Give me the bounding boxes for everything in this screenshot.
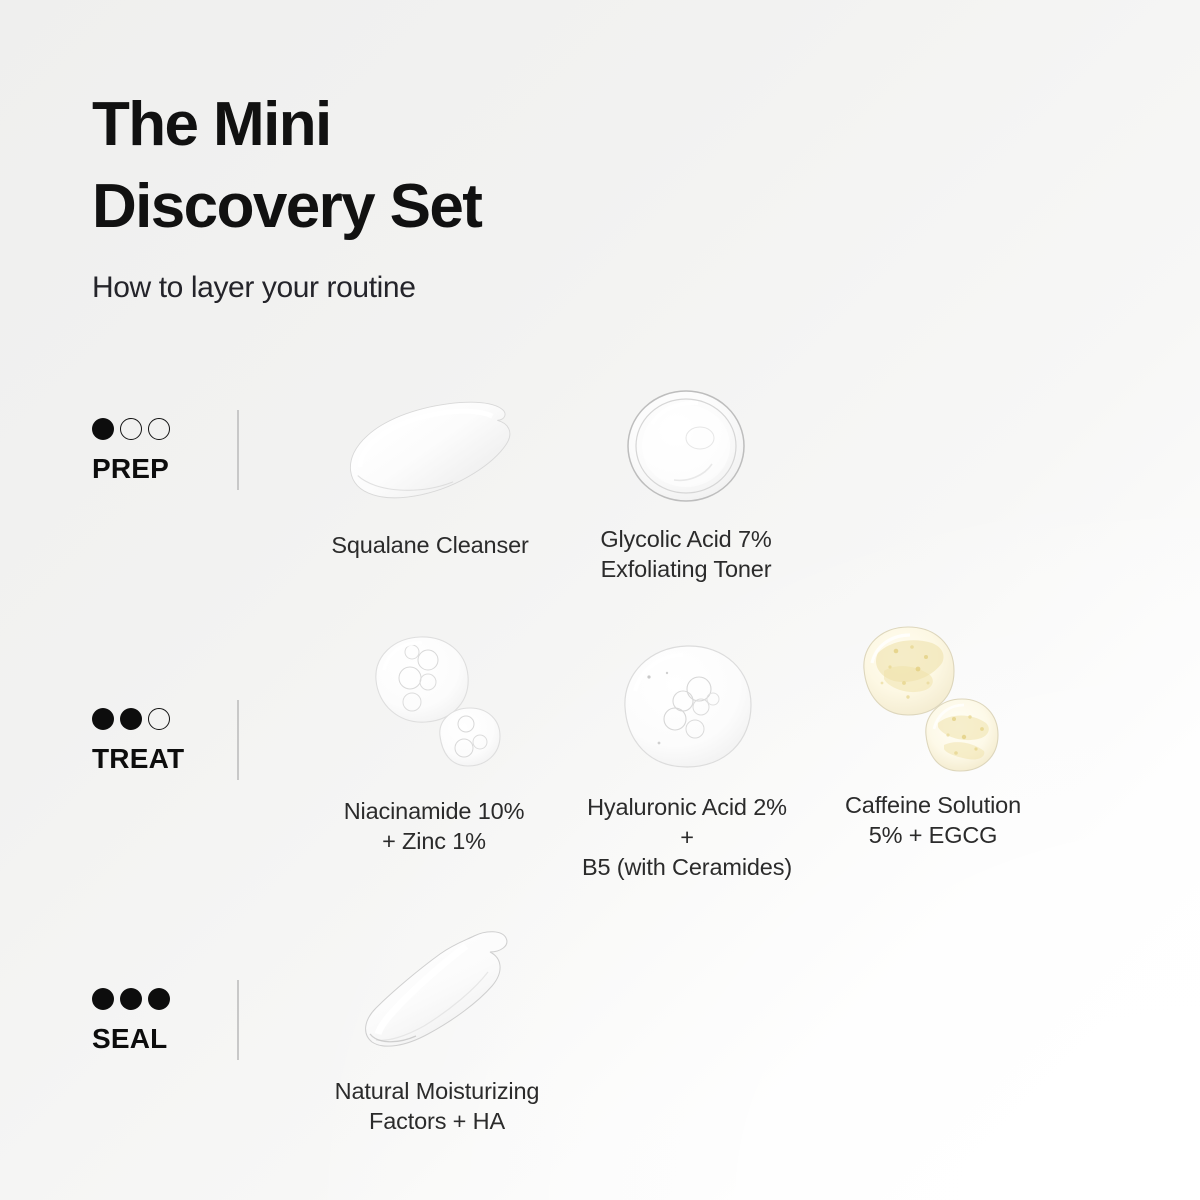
product-label: Niacinamide 10% + Zinc 1% [332,796,536,856]
progress-dot-filled [92,708,114,730]
golden-droplet-swatch [840,623,1026,778]
step-label-prep: PREP [92,418,232,485]
progress-dots-seal [92,988,232,1010]
progress-dots-treat [92,708,232,730]
progress-dot-filled [120,988,142,1010]
progress-dots-prep [92,418,232,440]
page-title: The Mini Discovery Set [92,84,481,249]
step-name: SEAL [92,1023,232,1055]
step-divider [237,410,239,490]
step-label-treat: TREAT [92,708,232,775]
product-hyaluronic-acid: Hyaluronic Acid 2% + B5 (with Ceramides) [578,638,796,882]
cream-smear-swatch [328,396,532,506]
double-droplet-swatch [332,630,536,780]
cream-blob-swatch [330,920,544,1060]
progress-dot-filled [92,418,114,440]
product-natural-moisturizing-factors: Natural Moisturizing Factors + HA [330,920,544,1136]
product-label: Caffeine Solution 5% + EGCG [840,790,1026,850]
progress-dot-filled [120,708,142,730]
step-divider [237,980,239,1060]
product-label: Hyaluronic Acid 2% + B5 (with Ceramides) [578,792,796,882]
step-name: TREAT [92,743,232,775]
product-label: Glycolic Acid 7% Exfoliating Toner [588,524,784,584]
step-name: PREP [92,453,232,485]
product-routine-infographic: The Mini Discovery Set How to layer your… [0,0,1200,1200]
progress-dot-filled [148,988,170,1010]
step-label-seal: SEAL [92,988,232,1055]
product-caffeine-solution: Caffeine Solution 5% + EGCG [840,623,1026,850]
progress-dot-empty [148,708,170,730]
header: The Mini Discovery Set How to layer your… [92,84,481,305]
clear-droplet-swatch [588,386,784,506]
bubble-droplet-swatch [578,638,796,778]
step-divider [237,700,239,780]
product-squalane-cleanser: Squalane Cleanser [328,396,532,560]
progress-dot-empty [120,418,142,440]
progress-dot-empty [148,418,170,440]
product-glycolic-toner: Glycolic Acid 7% Exfoliating Toner [588,386,784,584]
product-label: Squalane Cleanser [328,530,532,560]
product-niacinamide: Niacinamide 10% + Zinc 1% [332,630,536,856]
product-label: Natural Moisturizing Factors + HA [330,1076,544,1136]
page-subtitle: How to layer your routine [92,271,481,305]
progress-dot-filled [92,988,114,1010]
